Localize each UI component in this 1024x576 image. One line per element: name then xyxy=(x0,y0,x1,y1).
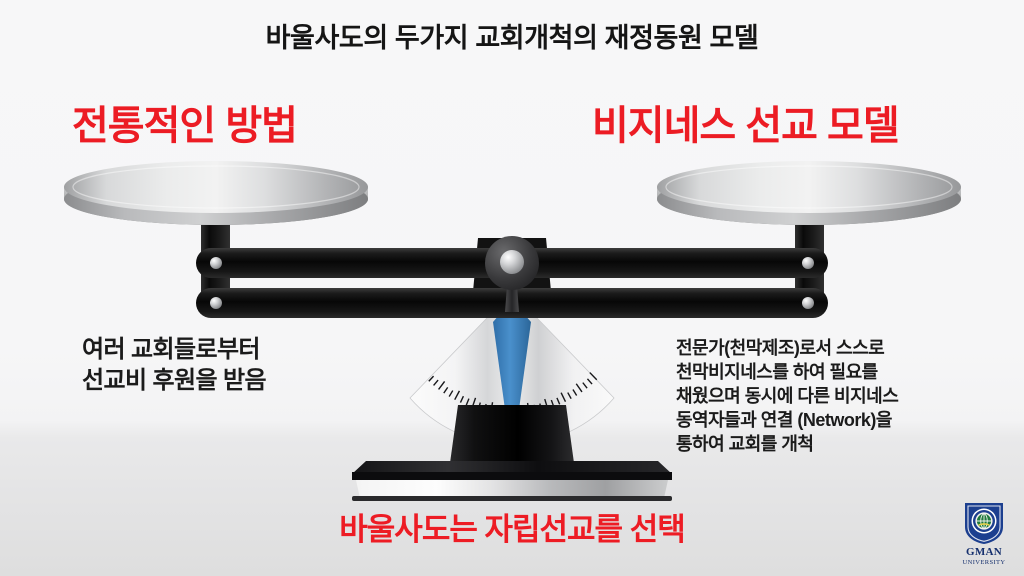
right-body-line: 통하여 교회를 개척 xyxy=(676,433,898,457)
left-body-line: 여러 교회들로부터 xyxy=(82,335,266,366)
bottom-caption: 바울사도는 자립선교를 선택 xyxy=(0,504,1024,549)
beam-rivet xyxy=(210,297,222,309)
scale-base xyxy=(352,405,672,501)
slide-title: 바울사도의 두가지 교회개척의 재정동원 모델 xyxy=(0,16,1024,55)
balance-scale-graphic xyxy=(0,0,1024,576)
logo-name: GMAN xyxy=(966,547,1002,558)
left-heading: 전통적인 방법 xyxy=(72,93,297,151)
right-body-line: 천막비지네스를 하여 필요를 xyxy=(676,361,898,385)
pivot-ball xyxy=(500,250,524,274)
slide-canvas: 바울사도의 두가지 교회개척의 재정동원 모델 전통적인 방법 비지네스 선교 … xyxy=(0,0,1024,576)
beam-rivet xyxy=(210,257,222,269)
shield-icon xyxy=(962,500,1006,546)
beam-rivet xyxy=(802,257,814,269)
left-body-line: 선교비 후원을 받음 xyxy=(82,366,266,397)
right-body-text: 전문가(천막제조)로서 스스로 천막비지네스를 하여 필요를 채웠으며 동시에 … xyxy=(676,337,898,457)
logo-subtitle: UNIVERSITY xyxy=(963,560,1006,567)
right-body-line: 동역자들과 연결 (Network)을 xyxy=(676,409,898,433)
scale-beams xyxy=(196,236,828,318)
right-body-line: 채웠으며 동시에 다른 비지네스 xyxy=(676,385,898,409)
left-body-text: 여러 교회들로부터 선교비 후원을 받음 xyxy=(82,335,266,396)
right-body-line: 전문가(천막제조)로서 스스로 xyxy=(676,337,898,361)
gman-university-logo: GMAN UNIVERSITY xyxy=(953,500,1015,568)
right-heading: 비지네스 선교 모델 xyxy=(592,93,899,151)
beam-rivet xyxy=(802,297,814,309)
